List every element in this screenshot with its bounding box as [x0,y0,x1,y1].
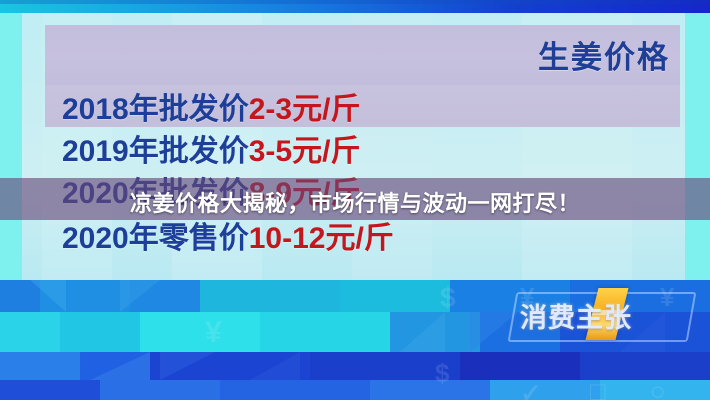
mosaic-tile [0,352,80,380]
right-cyan-rail [685,13,710,280]
mosaic-diagonal [250,352,300,380]
yen-glyph-icon: ¥ [205,316,222,350]
mosaic-diagonal [120,280,160,312]
mosaic-tile [490,380,600,400]
price-row-label: 2020年零售价 [62,222,249,255]
program-logo-text: 消费主张 [520,296,680,336]
check-glyph-icon: ✓ [520,378,542,400]
square-glyph-icon: □ [590,376,606,400]
mosaic-diagonal [400,312,445,352]
caption-text: 凉姜价格大揭秘，市场行情与波动一网打尽！ [0,186,710,218]
price-row-label: 2018年批发价 [62,93,249,126]
mosaic-tile [0,312,60,352]
mosaic-tile [340,280,450,312]
screenshot-root: 生姜价格 2018年批发价2-3元/斤 2019年批发价3-5元/斤 2020年… [0,0,710,400]
circle-glyph-icon: ○ [650,376,666,400]
mosaic-diagonal [160,352,215,380]
mosaic-tile [460,352,580,380]
price-row-value: 10-12元/斤 [249,222,394,255]
dollar-glyph-icon: $ [440,282,456,314]
mosaic-tile [100,380,220,400]
mosaic-tile [60,312,140,352]
mosaic-tile [260,312,390,352]
price-row: 2020年零售价10-12元/斤 [62,224,394,254]
price-row: 2019年批发价3-5元/斤 [62,137,360,167]
mosaic-tile [0,380,100,400]
price-row: 2018年批发价2-3元/斤 [62,95,360,125]
price-row-value: 2-3元/斤 [249,93,361,126]
mosaic-tile [220,380,370,400]
mosaic-tile [370,380,490,400]
price-row-label: 2019年批发价 [62,135,249,168]
top-gradient-bar-highlight [0,0,710,4]
dollar-glyph-icon: $ [435,358,449,389]
mosaic-tile [140,312,260,352]
mosaic-tile [200,280,340,312]
mosaic-diagonal [30,280,66,312]
price-row-value: 3-5元/斤 [249,135,361,168]
page-title: 生姜价格 [0,32,670,77]
mosaic-diagonal [90,352,150,380]
